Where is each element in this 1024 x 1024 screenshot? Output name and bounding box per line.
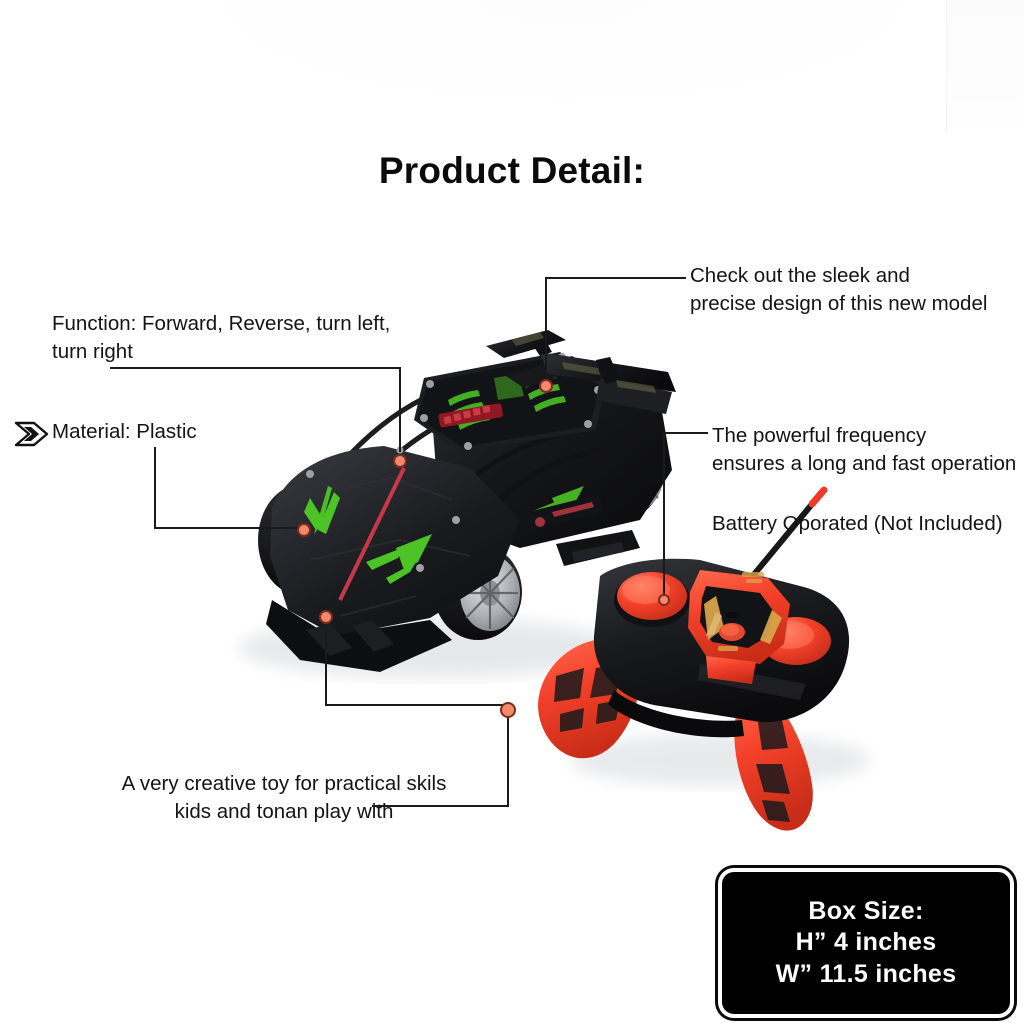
callout-material: Material: Plastic: [52, 418, 352, 446]
callout-frequency: The powerful frequency ensures a long an…: [712, 422, 1024, 479]
product-detail-page: Product Detail:: [0, 0, 1024, 1024]
box-size-height-value: H” 4 inches: [796, 928, 937, 958]
callout-creative-toy: A very creative toy for practical skils …: [84, 770, 484, 827]
box-size-heading: Box Size:: [808, 897, 923, 927]
double-chevron-icon: [14, 421, 50, 447]
box-size-plaque: Box Size: H” 4 inches W” 11.5 inches: [718, 868, 1014, 1018]
callout-sleek-design: Check out the sleek and precise design o…: [690, 262, 1020, 319]
callout-battery: Battery Oporated (Not Included): [712, 510, 1024, 538]
box-size-width-value: W” 11.5 inches: [776, 960, 957, 990]
callout-function: Function: Forward, Reverse, turn left, t…: [52, 310, 452, 367]
